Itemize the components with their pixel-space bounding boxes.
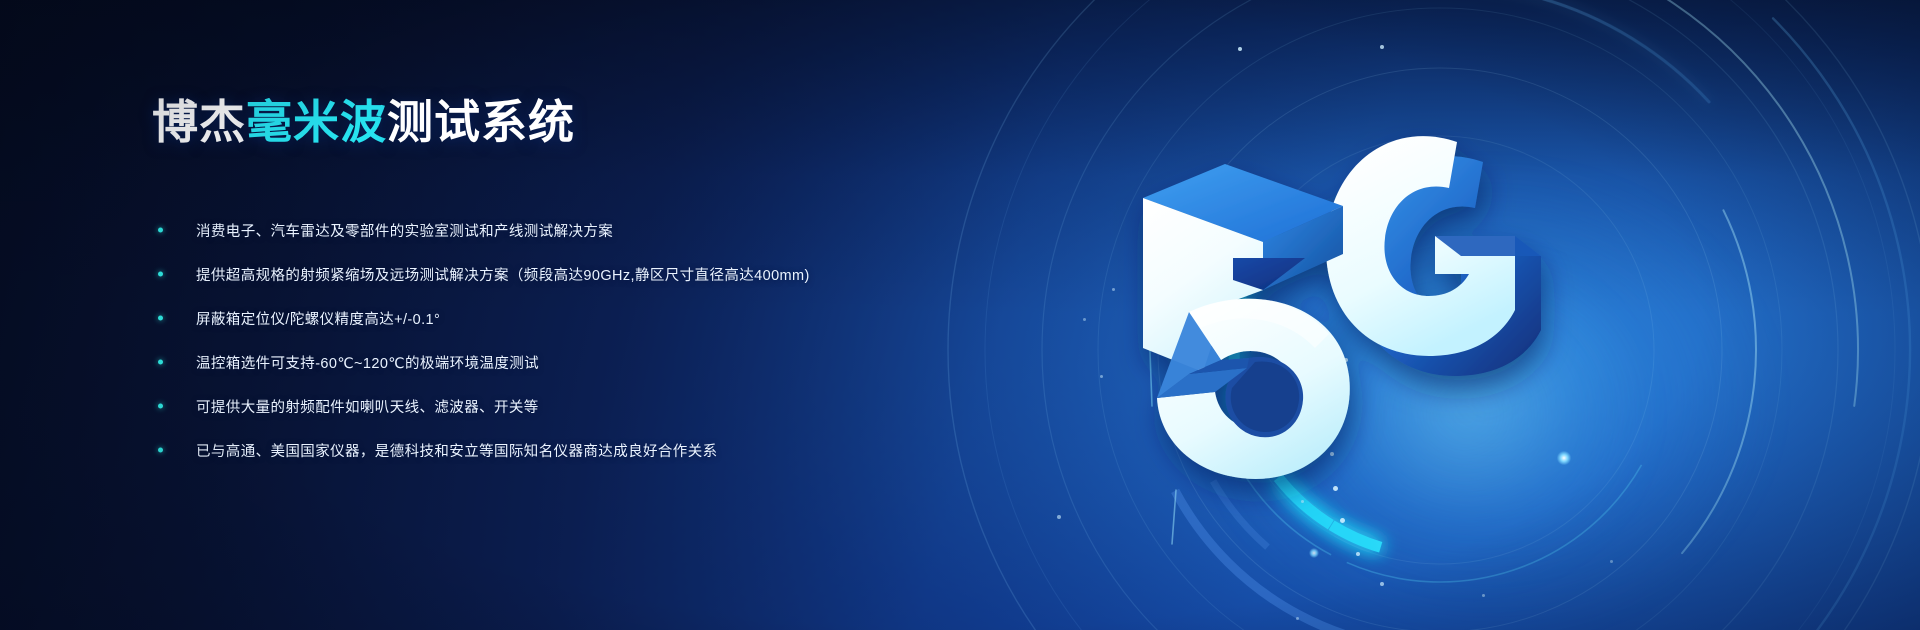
banner-slide: 博杰毫米波测试系统 消费电子、汽车雷达及零部件的实验室测试和产线测试解决方案 提… — [0, 0, 1920, 630]
vignette-overlay — [0, 0, 1920, 630]
